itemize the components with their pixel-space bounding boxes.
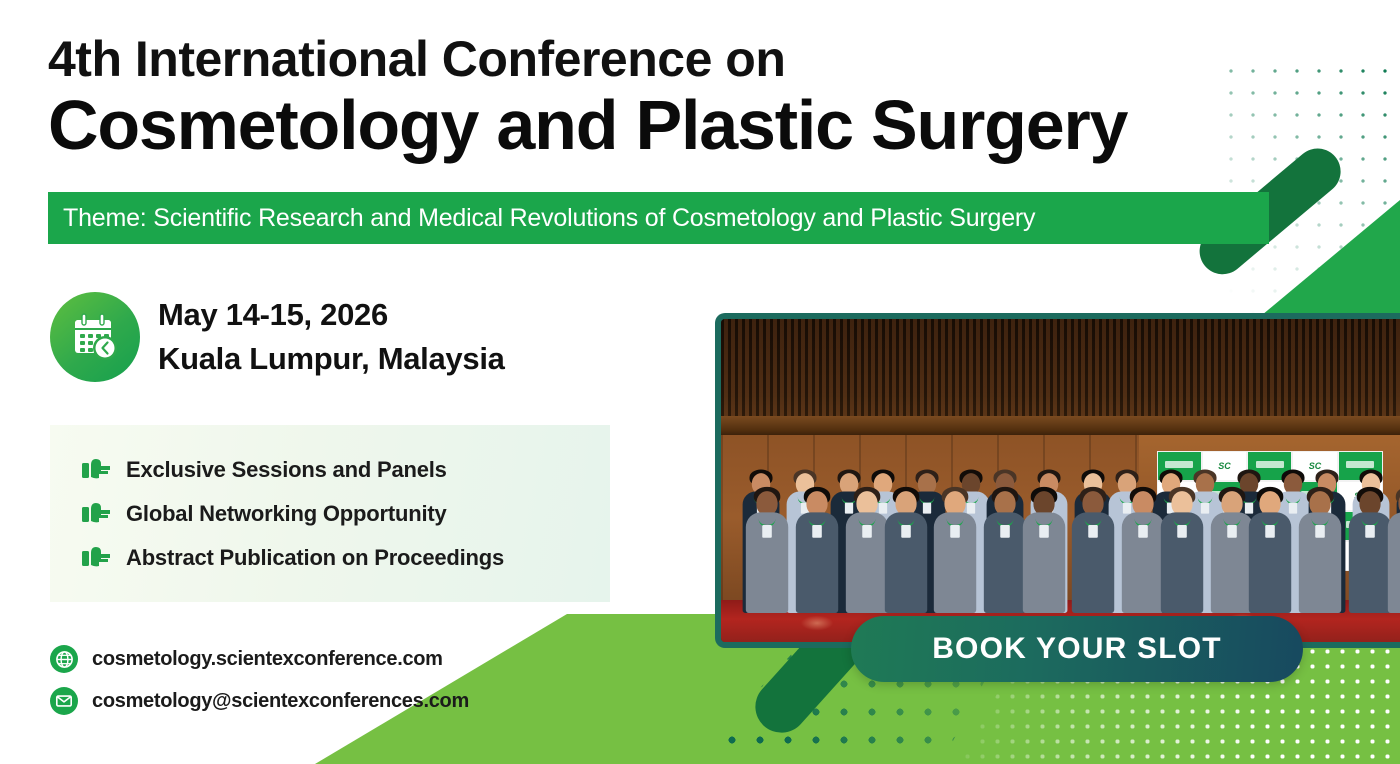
email-text: cosmetology@scientexconferences.com [92, 690, 469, 713]
feature-label: Abstract Publication on Proceedings [126, 545, 504, 571]
envelope-icon [50, 687, 78, 715]
conference-photo [715, 313, 1400, 648]
photo-delegates [721, 458, 1400, 613]
website-text: cosmetology.scientexconference.com [92, 648, 443, 671]
theme-text: Theme: Scientific Research and Medical R… [48, 204, 1035, 233]
photo-ceiling [721, 319, 1400, 429]
globe-icon [50, 645, 78, 673]
photo-scene [721, 319, 1400, 642]
pointing-hand-icon [82, 545, 112, 571]
book-your-slot-label: BOOK YOUR SLOT [932, 632, 1222, 666]
theme-banner: Theme: Scientific Research and Medical R… [48, 192, 1269, 244]
website-link[interactable]: cosmetology.scientexconference.com [50, 645, 469, 673]
email-link[interactable]: cosmetology@scientexconferences.com [50, 687, 469, 715]
calendar-clock-icon [50, 292, 140, 382]
pointing-hand-icon [82, 457, 112, 483]
feature-item: Exclusive Sessions and Panels [82, 457, 610, 483]
contact-list: cosmetology.scientexconference.com cosme… [50, 645, 469, 715]
book-your-slot-button[interactable]: BOOK YOUR SLOT [851, 616, 1303, 682]
event-location: Kuala Lumpur, Malaysia [158, 341, 505, 377]
conference-edition-title: 4th International Conference on [48, 32, 1278, 86]
event-details: May 14-15, 2026 Kuala Lumpur, Malaysia [50, 292, 505, 382]
event-date: May 14-15, 2026 [158, 297, 505, 333]
feature-label: Exclusive Sessions and Panels [126, 457, 447, 483]
page-title: 4th International Conference on Cosmetol… [48, 32, 1278, 162]
pointing-hand-icon [82, 501, 112, 527]
conference-name-title: Cosmetology and Plastic Surgery [48, 88, 1278, 162]
feature-label: Global Networking Opportunity [126, 501, 447, 527]
feature-item: Global Networking Opportunity [82, 501, 610, 527]
photo-delegate [1378, 491, 1400, 613]
feature-item: Abstract Publication on Proceedings [82, 545, 610, 571]
event-date-location: May 14-15, 2026 Kuala Lumpur, Malaysia [158, 297, 505, 377]
features-panel: Exclusive Sessions and Panels Global Net… [50, 425, 610, 602]
